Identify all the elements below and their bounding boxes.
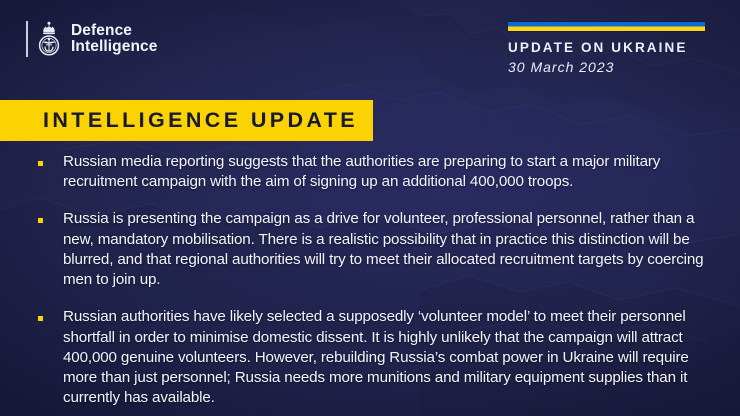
royal-crest-icon <box>36 20 62 58</box>
logo-line-defence: Defence <box>71 23 157 39</box>
bullet-list: Russian media reporting suggests that th… <box>38 152 722 408</box>
list-item: Russian authorities have likely selected… <box>38 307 722 408</box>
bullet-marker-icon <box>38 218 43 223</box>
intelligence-update-banner: INTELLIGENCE UPDATE <box>0 100 373 141</box>
bullet-marker-icon <box>38 316 43 321</box>
bullet-text: Russian media reporting suggests that th… <box>63 152 722 192</box>
update-header-block: UPDATE ON UKRAINE 30 March 2023 <box>508 22 706 75</box>
list-item: Russian media reporting suggests that th… <box>38 152 722 192</box>
logo-wordmark: Defence Intelligence <box>71 23 157 56</box>
bullet-marker-icon <box>38 161 43 166</box>
defence-intelligence-logo: Defence Intelligence <box>26 20 157 58</box>
list-item: Russia is presenting the campaign as a d… <box>38 209 722 290</box>
banner-label: INTELLIGENCE UPDATE <box>43 108 358 133</box>
intelligence-update-slide: Defence Intelligence UPDATE ON UKRAINE 3… <box>0 0 740 416</box>
logo-line-intelligence: Intelligence <box>71 39 157 55</box>
bullet-text: Russia is presenting the campaign as a d… <box>63 209 722 290</box>
bullet-text: Russian authorities have likely selected… <box>63 307 722 408</box>
ukraine-flag-bar-icon <box>508 22 705 31</box>
logo-divider-rule <box>26 21 28 57</box>
update-date: 30 March 2023 <box>508 59 706 75</box>
update-title: UPDATE ON UKRAINE <box>508 40 706 57</box>
